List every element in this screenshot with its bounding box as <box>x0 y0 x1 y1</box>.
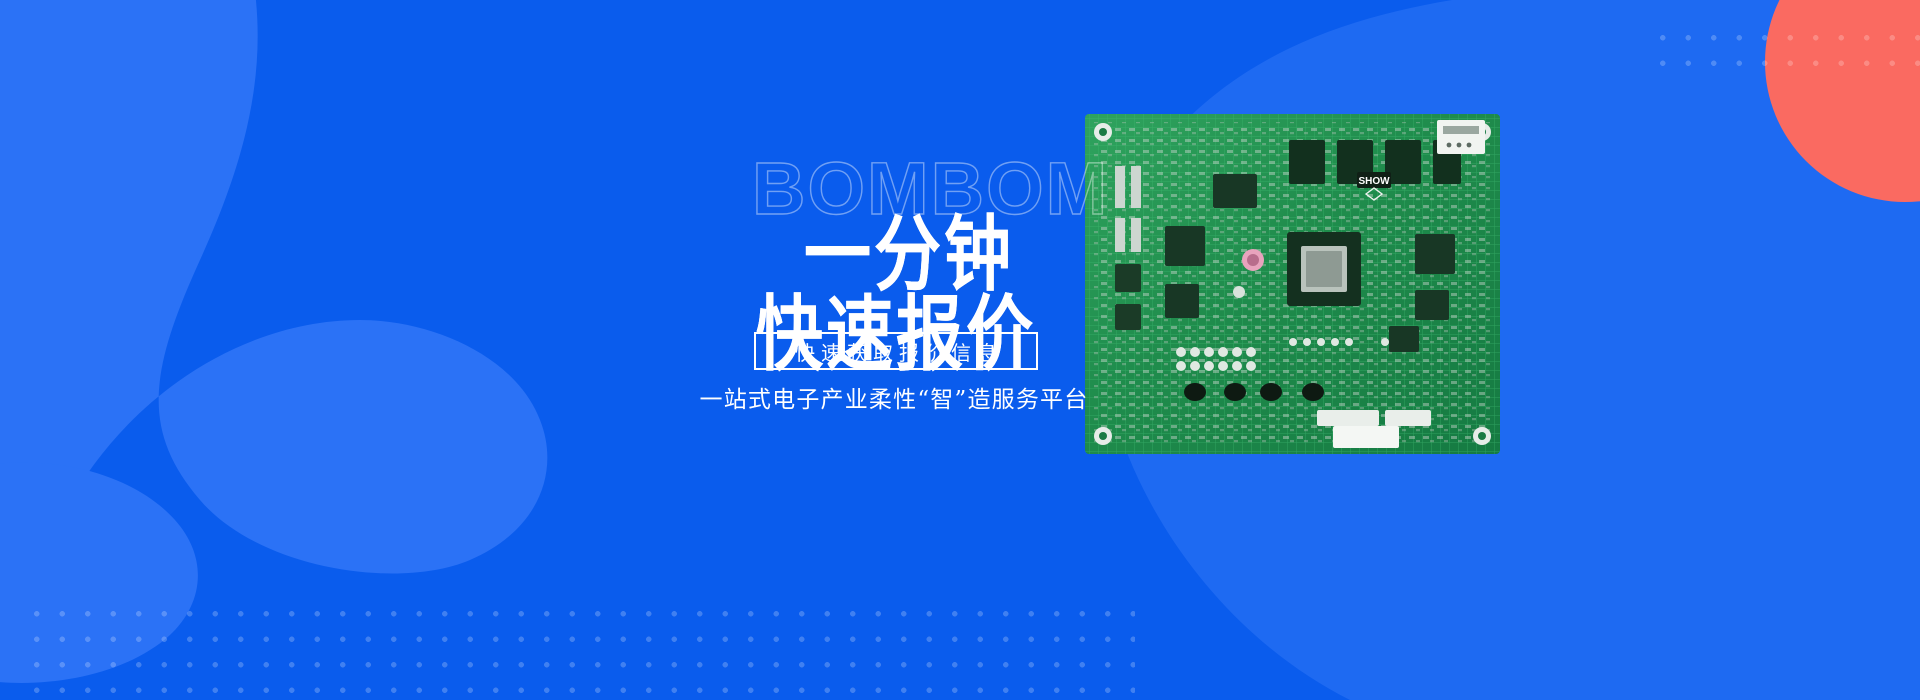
cta-button-label: 快速获取报价信息 <box>789 337 1003 366</box>
tagline-text: 一站式电子产业柔性“智”造服务平台 <box>684 380 1104 414</box>
hero-text-block: BOMBOM 一分钟 快速报价 快速获取报价信息 一站式电子产业柔性“智”造服务… <box>748 152 1308 422</box>
dot-grid-top-right <box>1646 21 1920 73</box>
promo-banner: SHOW <box>0 0 1920 700</box>
headline-line-1: 一分钟 <box>804 214 1014 296</box>
pcb-silkscreen-text: SHOW <box>1358 176 1390 187</box>
cta-button[interactable]: 快速获取报价信息 <box>754 332 1038 370</box>
pcb-top-connector <box>1437 120 1485 154</box>
dot-grid-bottom-left <box>20 597 1135 700</box>
